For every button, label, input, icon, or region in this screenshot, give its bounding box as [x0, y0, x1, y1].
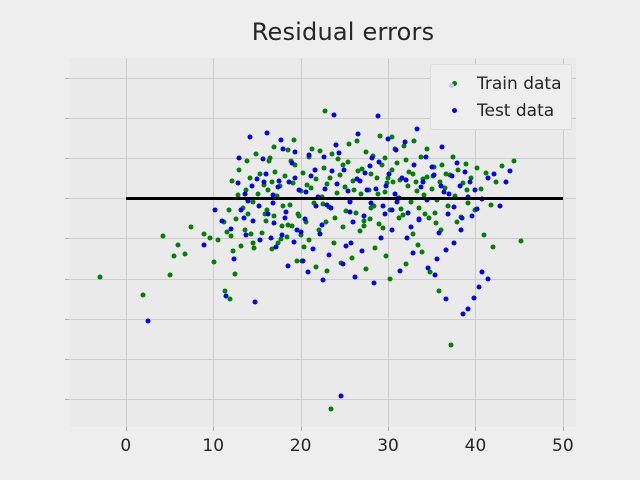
legend-label: Test data: [477, 101, 554, 121]
legend-ghost-marker-icon: [449, 83, 454, 88]
tick-mark-x: [388, 427, 389, 431]
legend-label: Train data: [477, 74, 562, 94]
x-tick-label: 10: [202, 436, 224, 456]
legend-dot-icon: [452, 108, 457, 113]
x-tick-label: 0: [120, 436, 131, 456]
x-tick-label: 30: [377, 436, 399, 456]
legend-item-train-data[interactable]: Train data: [431, 70, 562, 97]
tick-mark-x: [563, 427, 564, 431]
legend-marker-icon: [431, 108, 477, 113]
tick-mark-x: [301, 427, 302, 431]
figure-canvas: Residual errors 01020304050 151050−5−10−…: [0, 0, 640, 480]
x-tick-label: 50: [552, 436, 574, 456]
tick-mark-x: [213, 427, 214, 431]
page-title: Residual errors: [0, 18, 640, 46]
tick-mark-x: [475, 427, 476, 431]
chart-legend[interactable]: Train dataTest data: [430, 64, 572, 130]
legend-item-test-data[interactable]: Test data: [431, 97, 562, 124]
x-tick-label: 20: [290, 436, 312, 456]
legend-marker-icon: [431, 81, 477, 86]
x-tick-label: 40: [465, 436, 487, 456]
tick-mark-x: [126, 427, 127, 431]
